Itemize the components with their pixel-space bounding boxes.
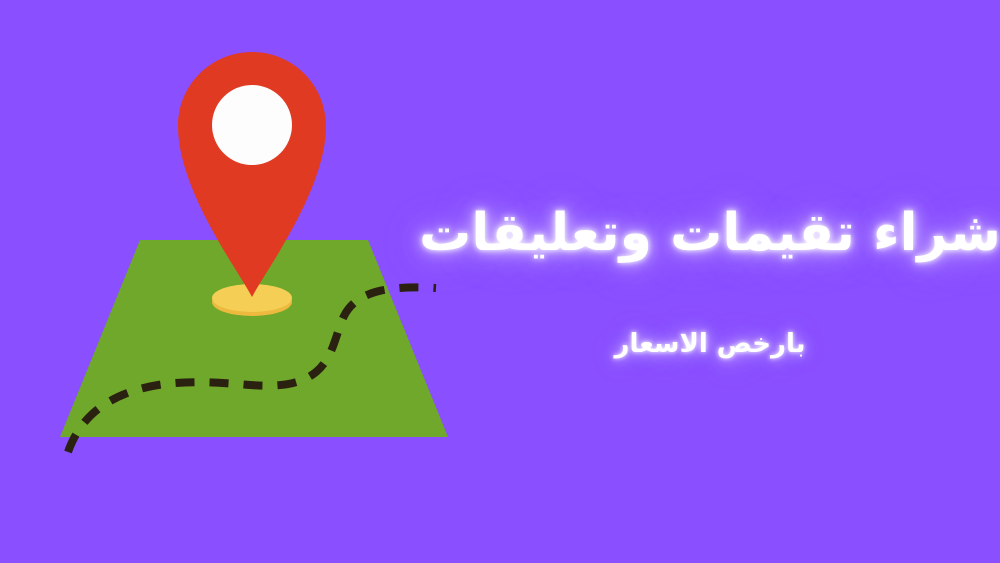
promo-banner: شراء تقيمات وتعليقات بارخص الاسعار <box>0 0 1000 563</box>
map-pin-hole <box>212 85 292 165</box>
banner-headline: شراء تقيمات وتعليقات <box>419 204 1000 264</box>
banner-subhead: بارخص الاسعار <box>615 329 806 359</box>
banner-text-block: شراء تقيمات وتعليقات بارخص الاسعار <box>420 0 1000 563</box>
